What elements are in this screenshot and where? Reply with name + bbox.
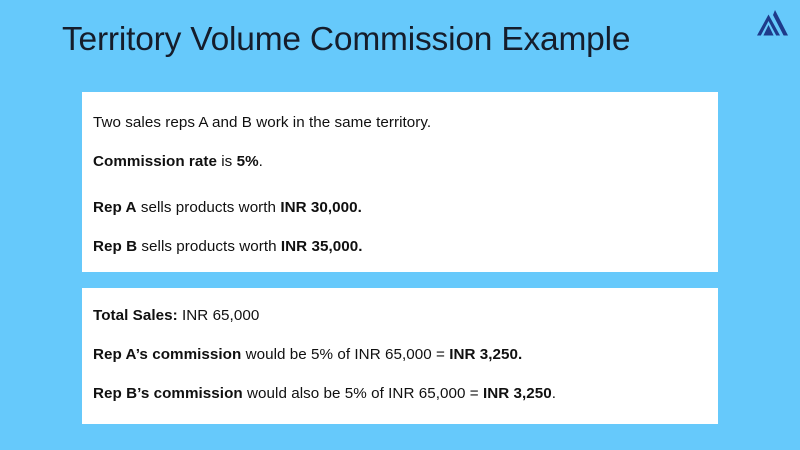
commission-rate-connector: is bbox=[217, 153, 237, 170]
rep-a-sales-value: INR 30,000. bbox=[280, 199, 362, 216]
rep-b-commission-label: Rep B’s commission bbox=[93, 385, 243, 402]
rep-b-commission-formula: would also be 5% of INR 65,000 = bbox=[243, 385, 483, 402]
page-title: Territory Volume Commission Example bbox=[62, 18, 752, 62]
commission-rate-period: . bbox=[259, 153, 263, 170]
fact-setup-text: Two sales reps A and B work in the same … bbox=[93, 114, 431, 131]
rep-a-commission-value: INR 3,250. bbox=[449, 346, 522, 363]
commission-rate-label: Commission rate bbox=[93, 153, 217, 170]
slide-canvas: Territory Volume Commission Example Two … bbox=[0, 0, 800, 450]
rep-b-sales-value: INR 35,000. bbox=[281, 238, 363, 255]
fact-line-commission-rate: Commission rate is 5%. bbox=[93, 151, 263, 172]
commission-rate-value: 5% bbox=[237, 153, 259, 170]
facts-card: Two sales reps A and B work in the same … bbox=[82, 92, 718, 272]
rep-a-label: Rep A bbox=[93, 199, 137, 216]
total-sales-value: INR 65,000 bbox=[178, 307, 260, 324]
mountain-m-logo-icon bbox=[756, 8, 790, 40]
rep-a-commission-label: Rep A’s commission bbox=[93, 346, 241, 363]
total-sales-label: Total Sales: bbox=[93, 307, 178, 324]
rep-b-label: Rep B bbox=[93, 238, 137, 255]
fact-line-rep-b-sales: Rep B sells products worth INR 35,000. bbox=[93, 236, 363, 257]
fact-line-setup: Two sales reps A and B work in the same … bbox=[93, 112, 431, 133]
fact-line-rep-a-sales: Rep A sells products worth INR 30,000. bbox=[93, 197, 362, 218]
rep-a-commission-formula: would be 5% of INR 65,000 = bbox=[241, 346, 449, 363]
result-line-rep-a-commission: Rep A’s commission would be 5% of INR 65… bbox=[93, 344, 522, 365]
result-card: Total Sales: INR 65,000 Rep A’s commissi… bbox=[82, 288, 718, 424]
rep-a-sales-connector: sells products worth bbox=[137, 199, 281, 216]
rep-b-commission-value: INR 3,250 bbox=[483, 385, 552, 402]
result-line-total-sales: Total Sales: INR 65,000 bbox=[93, 305, 259, 326]
rep-b-commission-period: . bbox=[552, 385, 556, 402]
rep-b-sales-connector: sells products worth bbox=[137, 238, 281, 255]
result-line-rep-b-commission: Rep B’s commission would also be 5% of I… bbox=[93, 383, 556, 404]
